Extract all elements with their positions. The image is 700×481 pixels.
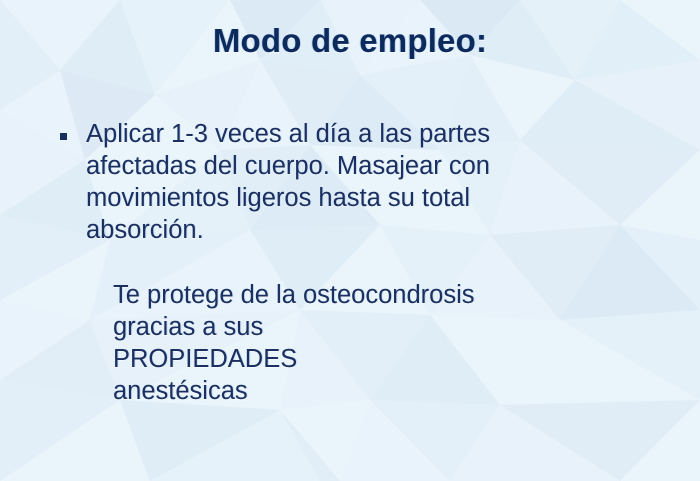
text-line: PROPIEDADES [113,343,673,375]
text-line: anestésicas [113,375,673,407]
slide-canvas: Modo de empleo: Aplicar 1-3 veces al día… [0,0,700,481]
text-line: afectadas del cuerpo. Masajear con [86,150,656,182]
bullet-text: Aplicar 1-3 veces al día a las partes af… [86,118,656,246]
text-line: movimientos ligeros hasta su total [86,182,656,214]
text-line: gracias a sus [113,311,673,343]
text-line: absorción. [86,214,656,246]
list-item: Aplicar 1-3 veces al día a las partes af… [56,118,656,246]
square-bullet-icon [60,133,67,140]
text-line: Te protege de la osteocondrosis [113,279,673,311]
secondary-paragraph: Te protege de la osteocondrosis gracias … [113,279,673,407]
text-line: Aplicar 1-3 veces al día a las partes [86,118,656,150]
bullet-list: Aplicar 1-3 veces al día a las partes af… [56,118,656,246]
slide-title: Modo de empleo: [0,22,700,60]
